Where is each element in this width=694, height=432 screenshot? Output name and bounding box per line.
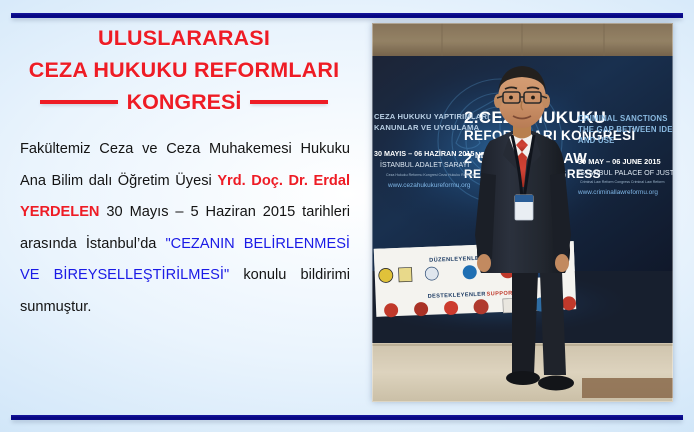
title-rule-right: [250, 100, 328, 104]
bottom-divider-rule: [11, 415, 683, 420]
title-line-3-row: KONGRESİ: [0, 87, 368, 117]
svg-text:CRIMINAL SANCTIONS: CRIMINAL SANCTIONS: [578, 114, 668, 123]
svg-text:ISTANBUL PALACE OF JUSTICE: ISTANBUL PALACE OF JUSTICE: [578, 168, 673, 177]
svg-text:30 MAY – 06 JUNE 2015: 30 MAY – 06 JUNE 2015: [578, 157, 661, 166]
title-line-1: ULUSLARARASI: [8, 22, 360, 54]
title-line-2: CEZA HUKUKU REFORMLARI: [8, 54, 360, 86]
page-title: ULUSLARARASI CEZA HUKUKU REFORMLARI: [0, 22, 368, 86]
congress-photo: 2.CEZA HUKUKU REFORMLARI KONGRESİ 2 CRIM…: [372, 23, 673, 402]
left-text-column: ULUSLARARASI CEZA HUKUKU REFORMLARI KONG…: [0, 22, 368, 412]
svg-text:AND USE: AND USE: [578, 136, 615, 145]
svg-text:KANUNLAR VE UYGULAMA: KANUNLAR VE UYGULAMA: [374, 123, 480, 132]
svg-text:Criminal Law Reform Congress C: Criminal Law Reform Congress Criminal La…: [580, 180, 664, 184]
announcement-slide: ULUSLARARASI CEZA HUKUKU REFORMLARI KONG…: [0, 0, 694, 432]
svg-text:www.cezahukukureformu.org: www.cezahukukureformu.org: [387, 182, 471, 189]
svg-text:www.criminallawreformu.org: www.criminallawreformu.org: [577, 189, 658, 196]
top-divider-rule: [11, 13, 683, 18]
title-rule-left: [40, 100, 118, 104]
svg-text:İSTANBUL ADALET SARAYI: İSTANBUL ADALET SARAYI: [380, 160, 469, 169]
congress-photo-image: 2.CEZA HUKUKU REFORMLARI KONGRESİ 2 CRIM…: [372, 23, 673, 402]
svg-text:30 MAYIS – 06 HAZİRAN 2015: 30 MAYIS – 06 HAZİRAN 2015: [374, 149, 474, 158]
title-line-3: KONGRESİ: [127, 87, 242, 117]
announcement-body: Fakültemiz Ceza ve Ceza Muhakemesi Hukuk…: [0, 134, 368, 323]
svg-text:THE GAP BETWEEN IDEA: THE GAP BETWEEN IDEA: [578, 125, 673, 134]
svg-text:CEZA HUKUKU YAPTIRIMLARI: CEZA HUKUKU YAPTIRIMLARI: [374, 112, 489, 121]
svg-text:Ceza Hukuku Reformu Kongresi C: Ceza Hukuku Reformu Kongresi Ceza Hukuku…: [386, 173, 475, 177]
